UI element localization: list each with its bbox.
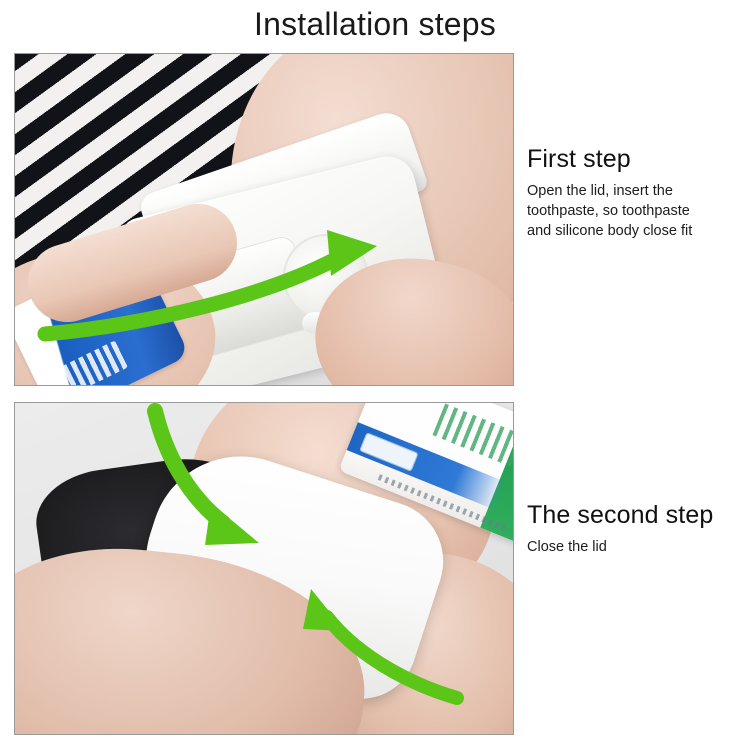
step-2-description: Close the lid: [527, 537, 747, 557]
step-1-scene: [15, 54, 513, 385]
green-arrow-insert-icon: [15, 54, 514, 386]
step-2-description-line: Close the lid: [527, 537, 747, 557]
step-2-text-block: The second step Close the lid: [527, 501, 747, 557]
step-1-description-line: and silicone body close fit: [527, 221, 747, 241]
step-1-photo-panel: 1: [14, 53, 514, 386]
step-1-description-line: Open the lid, insert the: [527, 181, 747, 201]
page-title: Installation steps: [0, 6, 750, 43]
step-2-photo-panel: 2: [14, 402, 514, 735]
step-1-text-block: First step Open the lid, insert the toot…: [527, 145, 747, 241]
green-arrow-push-up-icon: [15, 403, 514, 735]
step-2-scene: [15, 403, 513, 734]
step-1-heading: First step: [527, 145, 747, 174]
step-1-description: Open the lid, insert the toothpaste, so …: [527, 181, 747, 241]
step-2-heading: The second step: [527, 501, 747, 530]
step-1-description-line: toothpaste, so toothpaste: [527, 201, 747, 221]
